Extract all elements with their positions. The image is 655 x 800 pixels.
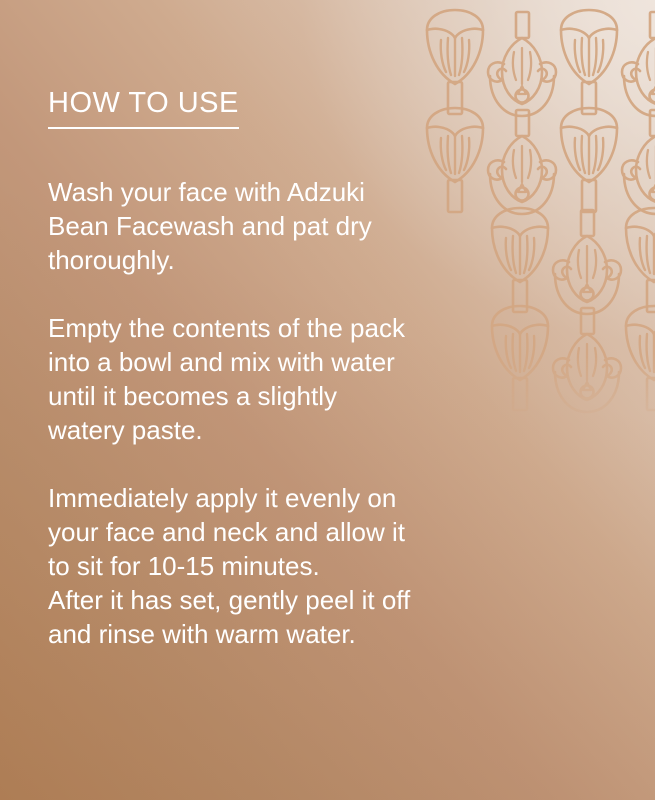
- instruction-step-3: Immediately apply it evenly on your face…: [48, 481, 478, 651]
- instruction-line: into a bowl and mix with water: [48, 345, 478, 379]
- how-to-use-banner: HOW TO USE Wash your face with Adzuki Be…: [0, 0, 655, 800]
- instruction-line: After it has set, gently peel it off: [48, 583, 478, 617]
- instruction-step-1: Wash your face with Adzuki Bean Facewash…: [48, 175, 478, 277]
- instruction-line: to sit for 10-15 minutes.: [48, 549, 478, 583]
- instruction-line: your face and neck and allow it: [48, 515, 478, 549]
- instruction-line: Bean Facewash and pat dry: [48, 209, 478, 243]
- instruction-line: watery paste.: [48, 413, 478, 447]
- instruction-line: until it becomes a slightly: [48, 379, 478, 413]
- instruction-line: Wash your face with Adzuki: [48, 175, 478, 209]
- instruction-line: Immediately apply it evenly on: [48, 481, 478, 515]
- instruction-line: and rinse with warm water.: [48, 617, 478, 651]
- page-title: HOW TO USE: [48, 88, 239, 129]
- instruction-line: thoroughly.: [48, 243, 478, 277]
- instructions-content: HOW TO USE Wash your face with Adzuki Be…: [0, 0, 518, 651]
- instruction-line: Empty the contents of the pack: [48, 311, 478, 345]
- instruction-step-2: Empty the contents of the pack into a bo…: [48, 311, 478, 447]
